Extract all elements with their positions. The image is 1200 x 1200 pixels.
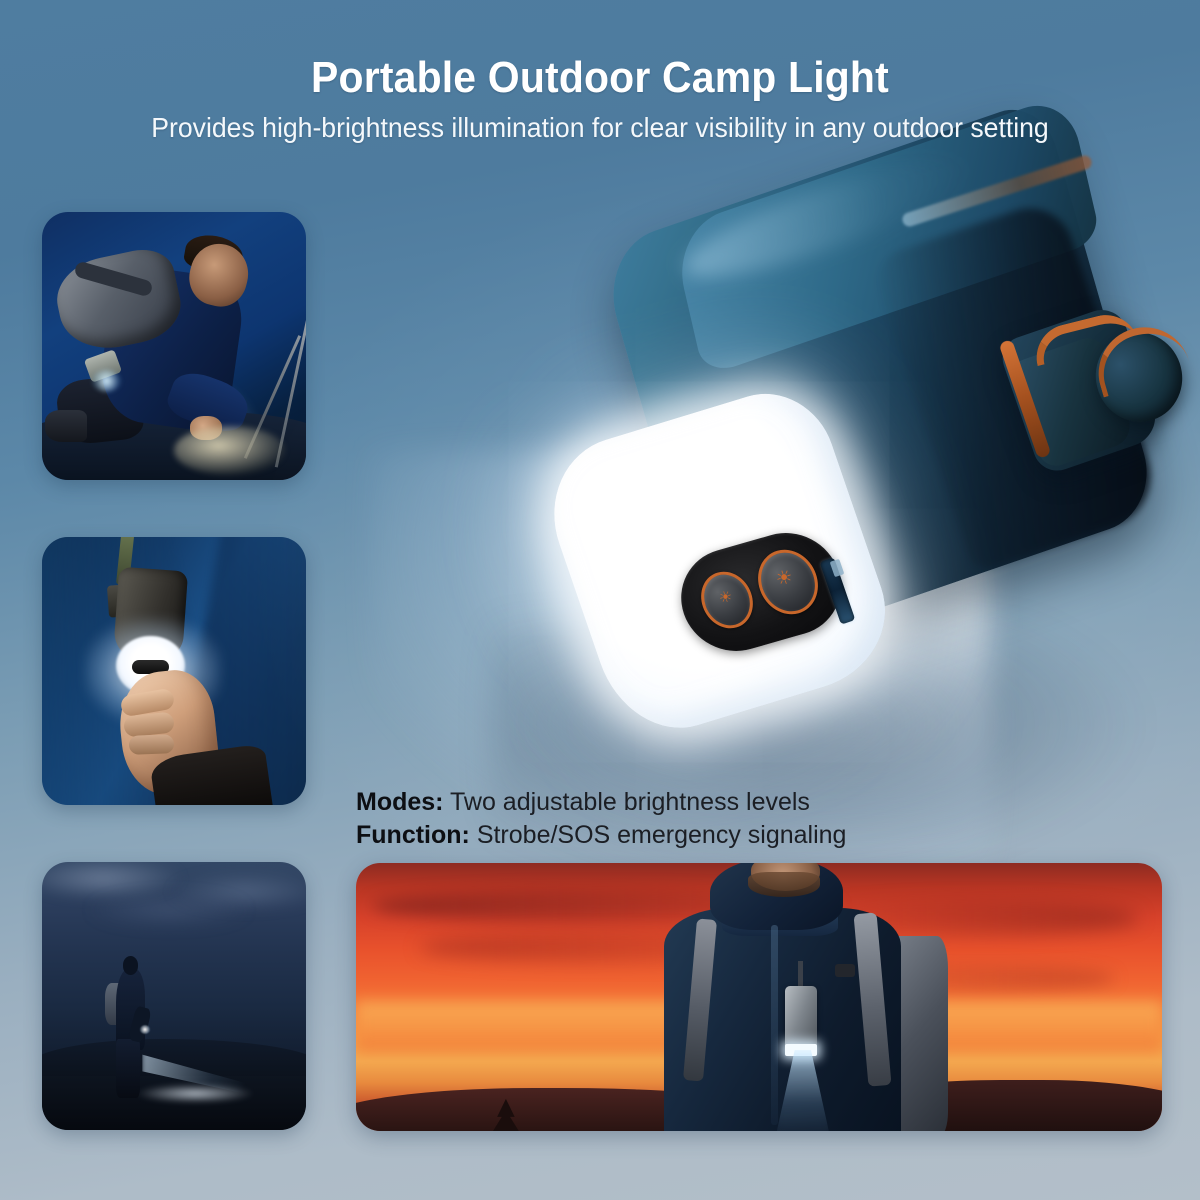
feature-modes-label: Modes: [356,788,444,816]
thumbnail-hand-holding-lamp[interactable] [42,537,306,805]
feature-modes: Modes: Two adjustable brightness levels [356,786,846,819]
hero-product-image: ☀ ☀ [430,150,1200,850]
beam-light-pool [137,1084,253,1103]
page-background: Portable Outdoor Camp Light Provides hig… [0,0,1200,1200]
feature-function: Function: Strobe/SOS emergency signaling [356,819,846,852]
thumbnail-hiker-night-ridge[interactable] [42,862,306,1130]
feature-list: Modes: Two adjustable brightness levels … [356,786,846,851]
thumbnail-camper-pitching-tent[interactable] [42,212,306,480]
strap-buckle [835,964,855,978]
feature-modes-value: Two adjustable brightness levels [450,788,810,816]
hiker-beard [748,872,821,897]
cloud-mid [90,894,248,926]
hiker-legs [116,1039,140,1098]
camper-boot [45,410,87,442]
page-title: Portable Outdoor Camp Light [42,56,1158,100]
feature-function-value: Strobe/SOS emergency signaling [477,821,847,849]
handheld-lamp [140,1025,151,1034]
hiker-head [123,956,139,975]
camp-light-render[interactable]: ☀ ☀ [526,160,1166,780]
photo-hiker-at-sunset[interactable] [356,863,1162,1131]
lit-tent-fabric [174,426,285,474]
scene-night-camp [42,212,306,480]
scene-night-ridge [42,862,306,1130]
header: Portable Outdoor Camp Light Provides hig… [0,0,1200,142]
hiker-figure [646,863,936,1131]
clip-light-glow [92,370,121,391]
finger-three [129,735,175,755]
scene-inside-tent [42,537,306,805]
page-subtitle: Provides high-brightness illumination fo… [30,114,1170,142]
clip-light-body [785,986,817,1053]
feature-function-label: Function: [356,821,470,849]
jacket-zipper [771,925,778,1126]
clip-light-cord [798,961,803,989]
